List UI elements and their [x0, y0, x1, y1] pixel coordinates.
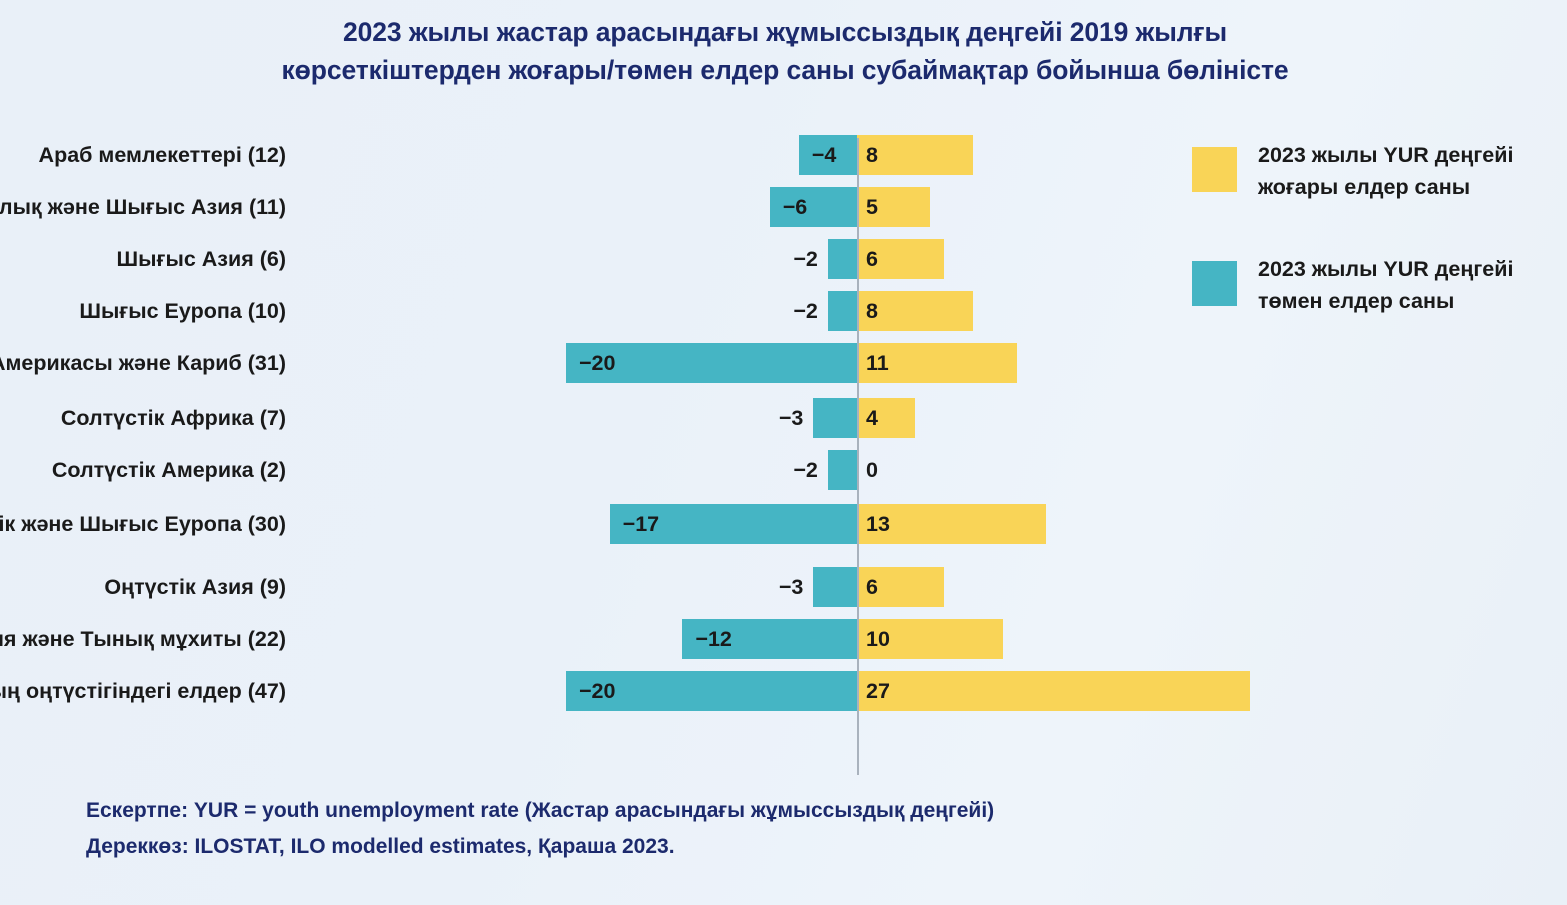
- bar-value-positive: 6: [857, 567, 956, 607]
- footnotes: Ескертпе: YUR = youth unemployment rate …: [86, 793, 1336, 865]
- bar-value-negative: −2: [762, 239, 818, 279]
- category-label: Солтүстік Америка (2): [52, 447, 286, 493]
- bar-negative[interactable]: [828, 239, 857, 279]
- category-label: Латын Америкасы және Кариб (31): [0, 340, 286, 386]
- legend-label-higher-yur: 2023 жылы YUR деңгейі жоғары елдер саны: [1258, 140, 1552, 204]
- chart-row: Солтүстік Америка (2)−20: [0, 447, 1180, 493]
- bar-value-negative: −3: [747, 398, 803, 438]
- category-label: Сахараның оңтүстігіндегі елдер (47): [0, 668, 286, 714]
- bar-value-negative: −20: [566, 671, 860, 711]
- bar-value-negative: −6: [770, 187, 860, 227]
- bar-value-negative: −3: [747, 567, 803, 607]
- bar-value-positive: 8: [857, 135, 956, 175]
- category-label: Оңт. Шығыс Азия және Тынық мұхиты (22): [0, 616, 286, 662]
- bar-value-positive: 27: [857, 671, 956, 711]
- legend-item-lower-yur[interactable]: 2023 жылы YUR деңгейі төмен елдер саны: [1192, 254, 1552, 350]
- chart-row: Араб мемлекеттері (12)−48: [0, 132, 1180, 178]
- chart-row: Шығыс Еуропа (10)−28: [0, 288, 1180, 334]
- category-label: Солтүстік Африка (7): [61, 395, 286, 441]
- category-label: Араб мемлекеттері (12): [39, 132, 286, 178]
- bar-negative[interactable]: [828, 450, 857, 490]
- category-label: Солтүстік және Шығыс Еуропа (30): [0, 501, 286, 547]
- category-label: Шығыс Еуропа (10): [79, 288, 286, 334]
- legend-swatch-teal: [1192, 261, 1237, 306]
- bar-value-positive: 8: [857, 291, 956, 331]
- bar-negative[interactable]: [813, 567, 857, 607]
- chart-row: Солтүстік Африка (7)−34: [0, 395, 1180, 441]
- bar-value-negative: −20: [566, 343, 860, 383]
- chart-plot-area: Араб мемлекеттері (12)−48Орталық және Шы…: [0, 132, 1180, 772]
- chart-row: Оңт. Шығыс Азия және Тынық мұхиты (22)−1…: [0, 616, 1180, 662]
- bar-value-positive: 13: [857, 504, 956, 544]
- category-label: Шығыс Азия (6): [117, 236, 286, 282]
- chart-row: Латын Америкасы және Кариб (31)−2011: [0, 340, 1180, 386]
- bar-value-positive: 0: [857, 450, 956, 490]
- bar-value-negative: −2: [762, 291, 818, 331]
- chart-row: Оңтүстік Азия (9)−36: [0, 564, 1180, 610]
- chart-legend: 2023 жылы YUR деңгейі жоғары елдер саны …: [1192, 140, 1552, 368]
- category-label: Оңтүстік Азия (9): [104, 564, 286, 610]
- chart-row: Орталық және Шығыс Азия (11)−65: [0, 184, 1180, 230]
- bar-value-negative: −17: [610, 504, 860, 544]
- bar-value-positive: 10: [857, 619, 956, 659]
- bar-value-positive: 11: [857, 343, 956, 383]
- bar-negative[interactable]: [813, 398, 857, 438]
- chart-title-line-2: көрсеткіштерден жоғары/төмен елдер саны …: [120, 52, 1450, 90]
- bar-value-negative: −12: [682, 619, 860, 659]
- legend-swatch-yellow: [1192, 147, 1237, 192]
- zero-axis-line: [857, 138, 859, 775]
- footnote-source: Дереккөз: ILOSTAT, ILO modelled estimate…: [86, 829, 1336, 865]
- bar-value-positive: 4: [857, 398, 956, 438]
- category-label: Орталық және Шығыс Азия (11): [0, 184, 286, 230]
- legend-item-higher-yur[interactable]: 2023 жылы YUR деңгейі жоғары елдер саны: [1192, 140, 1552, 236]
- chart-title-line-1: 2023 жылы жастар арасындағы жұмыссыздық …: [120, 14, 1450, 52]
- chart-row: Шығыс Азия (6)−26: [0, 236, 1180, 282]
- bar-negative[interactable]: [828, 291, 857, 331]
- chart-row: Солтүстік және Шығыс Еуропа (30)−1713: [0, 501, 1180, 547]
- chart-row: Сахараның оңтүстігіндегі елдер (47)−2027: [0, 668, 1180, 714]
- bar-value-negative: −4: [799, 135, 860, 175]
- bar-value-positive: 5: [857, 187, 956, 227]
- bar-value-negative: −2: [762, 450, 818, 490]
- legend-label-lower-yur: 2023 жылы YUR деңгейі төмен елдер саны: [1258, 254, 1552, 318]
- footnote-note: Ескертпе: YUR = youth unemployment rate …: [86, 793, 1336, 829]
- bar-value-positive: 6: [857, 239, 956, 279]
- chart-title: 2023 жылы жастар арасындағы жұмыссыздық …: [120, 14, 1450, 89]
